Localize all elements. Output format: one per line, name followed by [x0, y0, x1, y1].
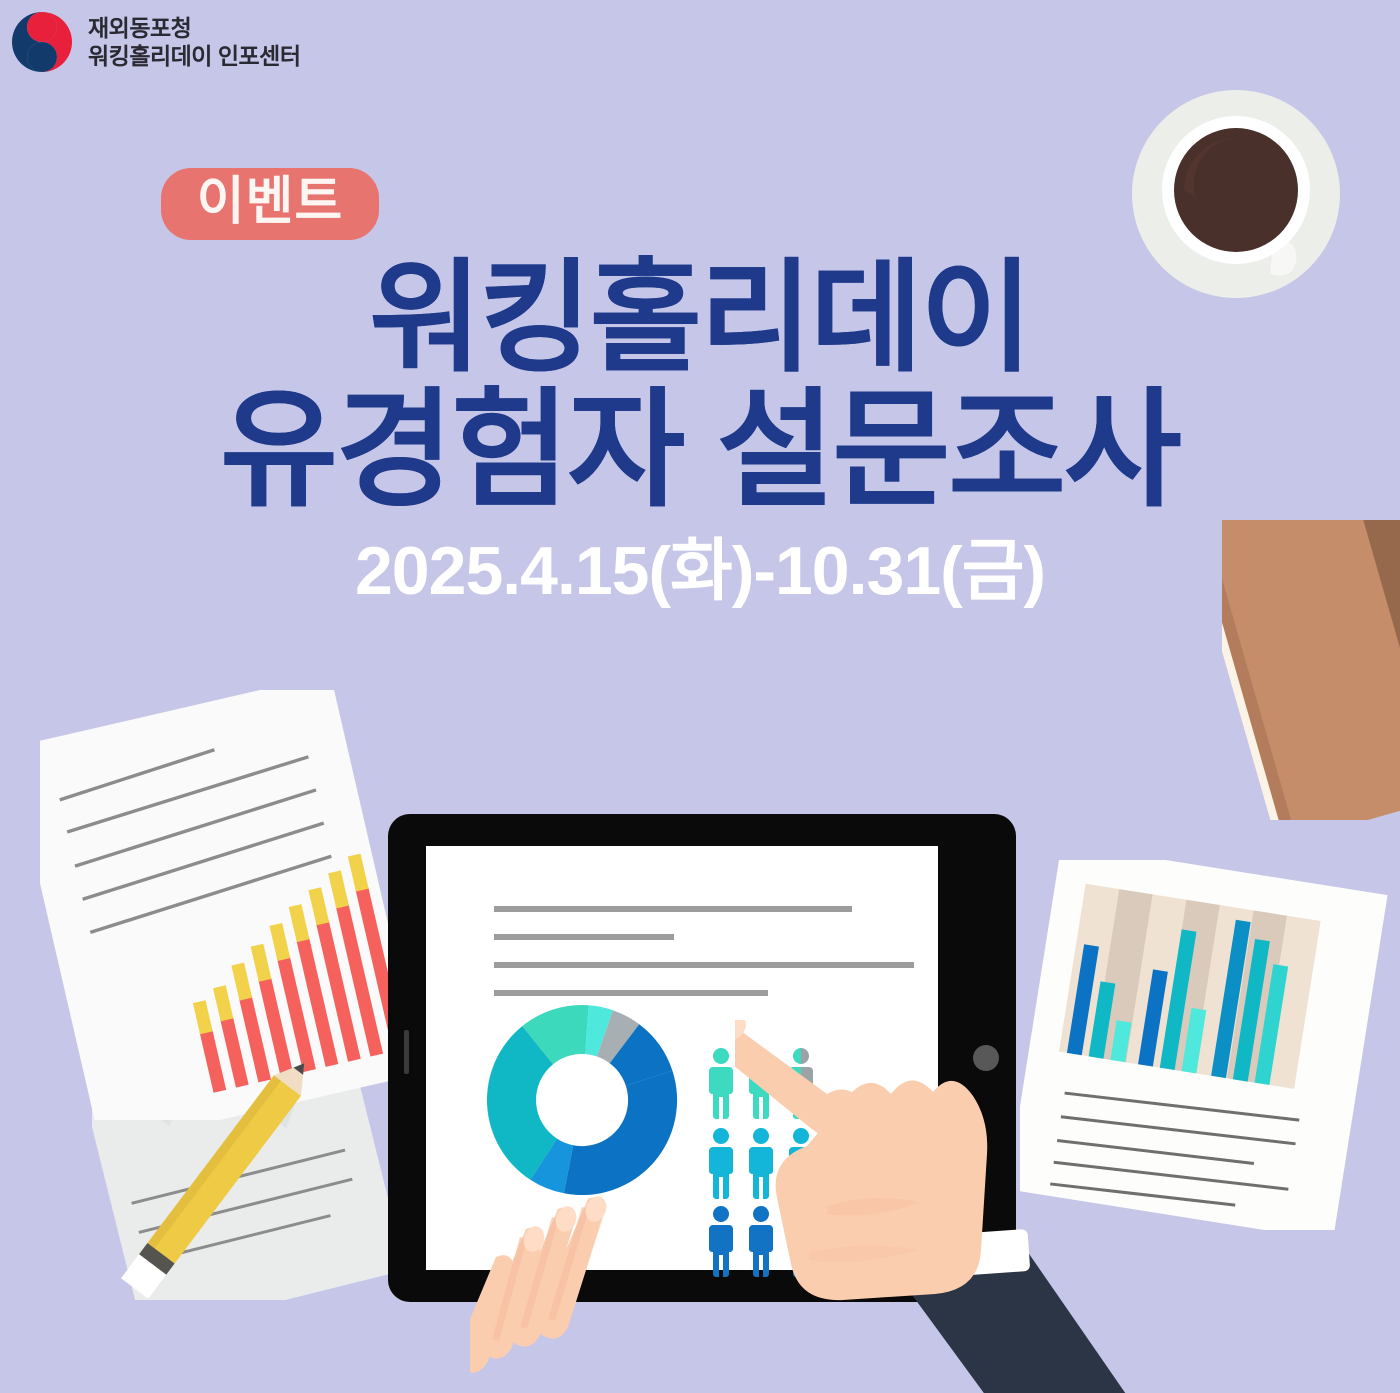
right-hand-pointing-illustration	[735, 1020, 1205, 1393]
text-block: 이벤트 워킹홀리데이 유경험자 설문조사 2025.4.15(화)-10.31(…	[0, 168, 1400, 605]
logo-text: 재외동포청 워킹홀리데이 인포센터	[88, 14, 301, 70]
logo-line-1: 재외동포청	[88, 14, 301, 42]
headline-line-2: 유경험자 설문조사	[0, 383, 1400, 519]
page-title: 워킹홀리데이 유경험자 설문조사	[0, 254, 1400, 519]
date-range: 2025.4.15(화)-10.31(금)	[0, 537, 1400, 605]
left-hand-illustration	[470, 1195, 730, 1393]
pencil-illustration	[60, 1040, 360, 1340]
logo: 재외동포청 워킹홀리데이 인포센터	[8, 8, 301, 76]
poster-canvas: 재외동포청 워킹홀리데이 인포센터 이벤트 워킹홀리데이 유경험자 설문조사 2…	[0, 0, 1400, 1393]
logo-line-2: 워킹홀리데이 인포센터	[88, 42, 301, 70]
event-badge: 이벤트	[161, 168, 380, 240]
taegeuk-icon	[8, 8, 76, 76]
headline-line-1: 워킹홀리데이	[0, 254, 1400, 383]
